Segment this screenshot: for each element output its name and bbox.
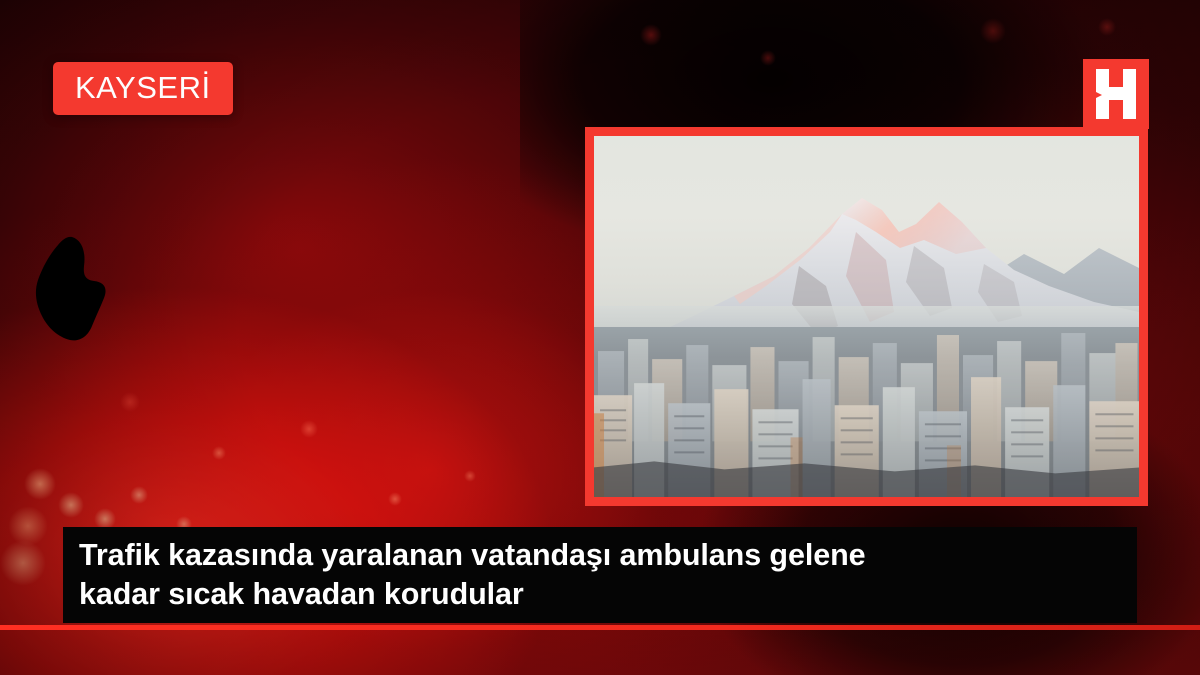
location-badge: KAYSERİ	[53, 62, 233, 115]
headline-line-2: kadar sıcak havadan korudular	[79, 577, 524, 611]
photo-image	[594, 136, 1139, 497]
location-badge-label: KAYSERİ	[75, 70, 211, 105]
news-card: KAYSERİ	[0, 0, 1200, 675]
bottom-red-rule	[0, 625, 1200, 630]
caption-bar: Trafik kazasında yaralanan vatandaşı amb…	[63, 527, 1137, 623]
h-logo-icon	[1094, 68, 1138, 120]
cityscape-icon	[594, 317, 1139, 498]
photo-frame	[585, 127, 1148, 506]
headline-line-1: Trafik kazasında yaralanan vatandaşı amb…	[79, 538, 865, 572]
h-logo[interactable]	[1083, 59, 1149, 129]
page-title: Trafik kazasında yaralanan vatandaşı amb…	[79, 536, 1121, 615]
